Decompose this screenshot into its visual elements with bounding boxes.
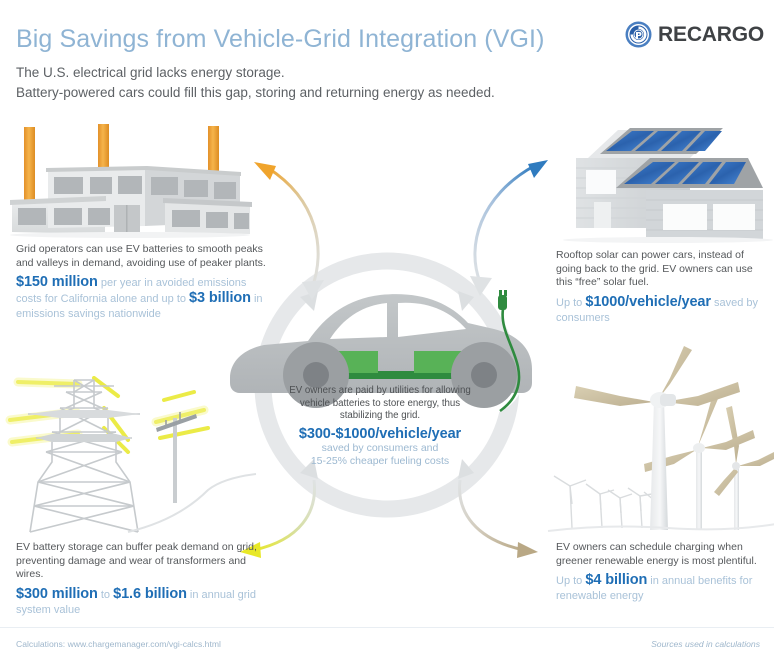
wind-turbines-illustration [548, 368, 774, 536]
callout-statistic: Up to $1000/vehicle/year saved by consum… [556, 295, 768, 326]
callout-description: EV owners can schedule charging when gre… [556, 541, 768, 568]
stat-value: $1.6 billion [113, 586, 187, 602]
callout-description: EV battery storage can buffer peak deman… [16, 541, 271, 582]
solar-house-illustration [558, 128, 773, 243]
callout-grid-operators: Grid operators can use EV batteries to s… [16, 243, 271, 322]
callout-transformer-wear: EV battery storage can buffer peak deman… [16, 541, 271, 618]
center-description: EV owners are paid by utilities for allo… [285, 385, 475, 423]
center-subtext: saved by consumers and 15-25% cheaper fu… [285, 442, 475, 469]
factory-illustration [10, 122, 260, 242]
callout-description: Grid operators can use EV batteries to s… [16, 243, 271, 270]
page-title: Big Savings from Vehicle-Grid Integratio… [16, 24, 545, 54]
arrow-to-solar-house [438, 140, 568, 310]
stat-value: $300 million [16, 586, 98, 602]
recargo-logo: RECARGO [625, 21, 764, 48]
stat-value: $3 billion [189, 290, 251, 306]
callout-statistic: Up to $4 billion in annual benefits for … [556, 573, 768, 604]
callout-renewable-scheduling: EV owners can schedule charging when gre… [556, 541, 768, 604]
callout-rooftop-solar: Rooftop solar can power cars, instead of… [556, 249, 768, 326]
stat-text: Up to [556, 575, 585, 587]
callout-statistic: $300 million to $1.6 billion in annual g… [16, 587, 271, 618]
callout-statistic: $150 million per year in avoided emissio… [16, 275, 271, 322]
stat-text: to [98, 589, 113, 601]
callout-description: Rooftop solar can power cars, instead of… [556, 249, 768, 290]
recargo-spiral-icon [625, 21, 652, 48]
page-subtitle: The U.S. electrical grid lacks energy st… [16, 63, 495, 102]
center-callout: EV owners are paid by utilities for allo… [285, 385, 475, 469]
stat-value: $4 billion [585, 572, 647, 588]
recargo-logo-text: RECARGO [658, 23, 764, 47]
footer-calculations-link[interactable]: Calculations: www.chargemanager.com/vgi-… [16, 639, 221, 649]
infographic-page: Big Savings from Vehicle-Grid Integratio… [0, 0, 774, 663]
stat-text: Up to [556, 297, 585, 309]
footer-sources-link[interactable]: Sources used in calculations [651, 639, 760, 649]
stat-value: $150 million [16, 274, 98, 290]
center-headline: $300-$1000/vehicle/year [285, 426, 475, 442]
stat-value: $1000/vehicle/year [585, 294, 711, 310]
footer-divider [0, 627, 774, 628]
